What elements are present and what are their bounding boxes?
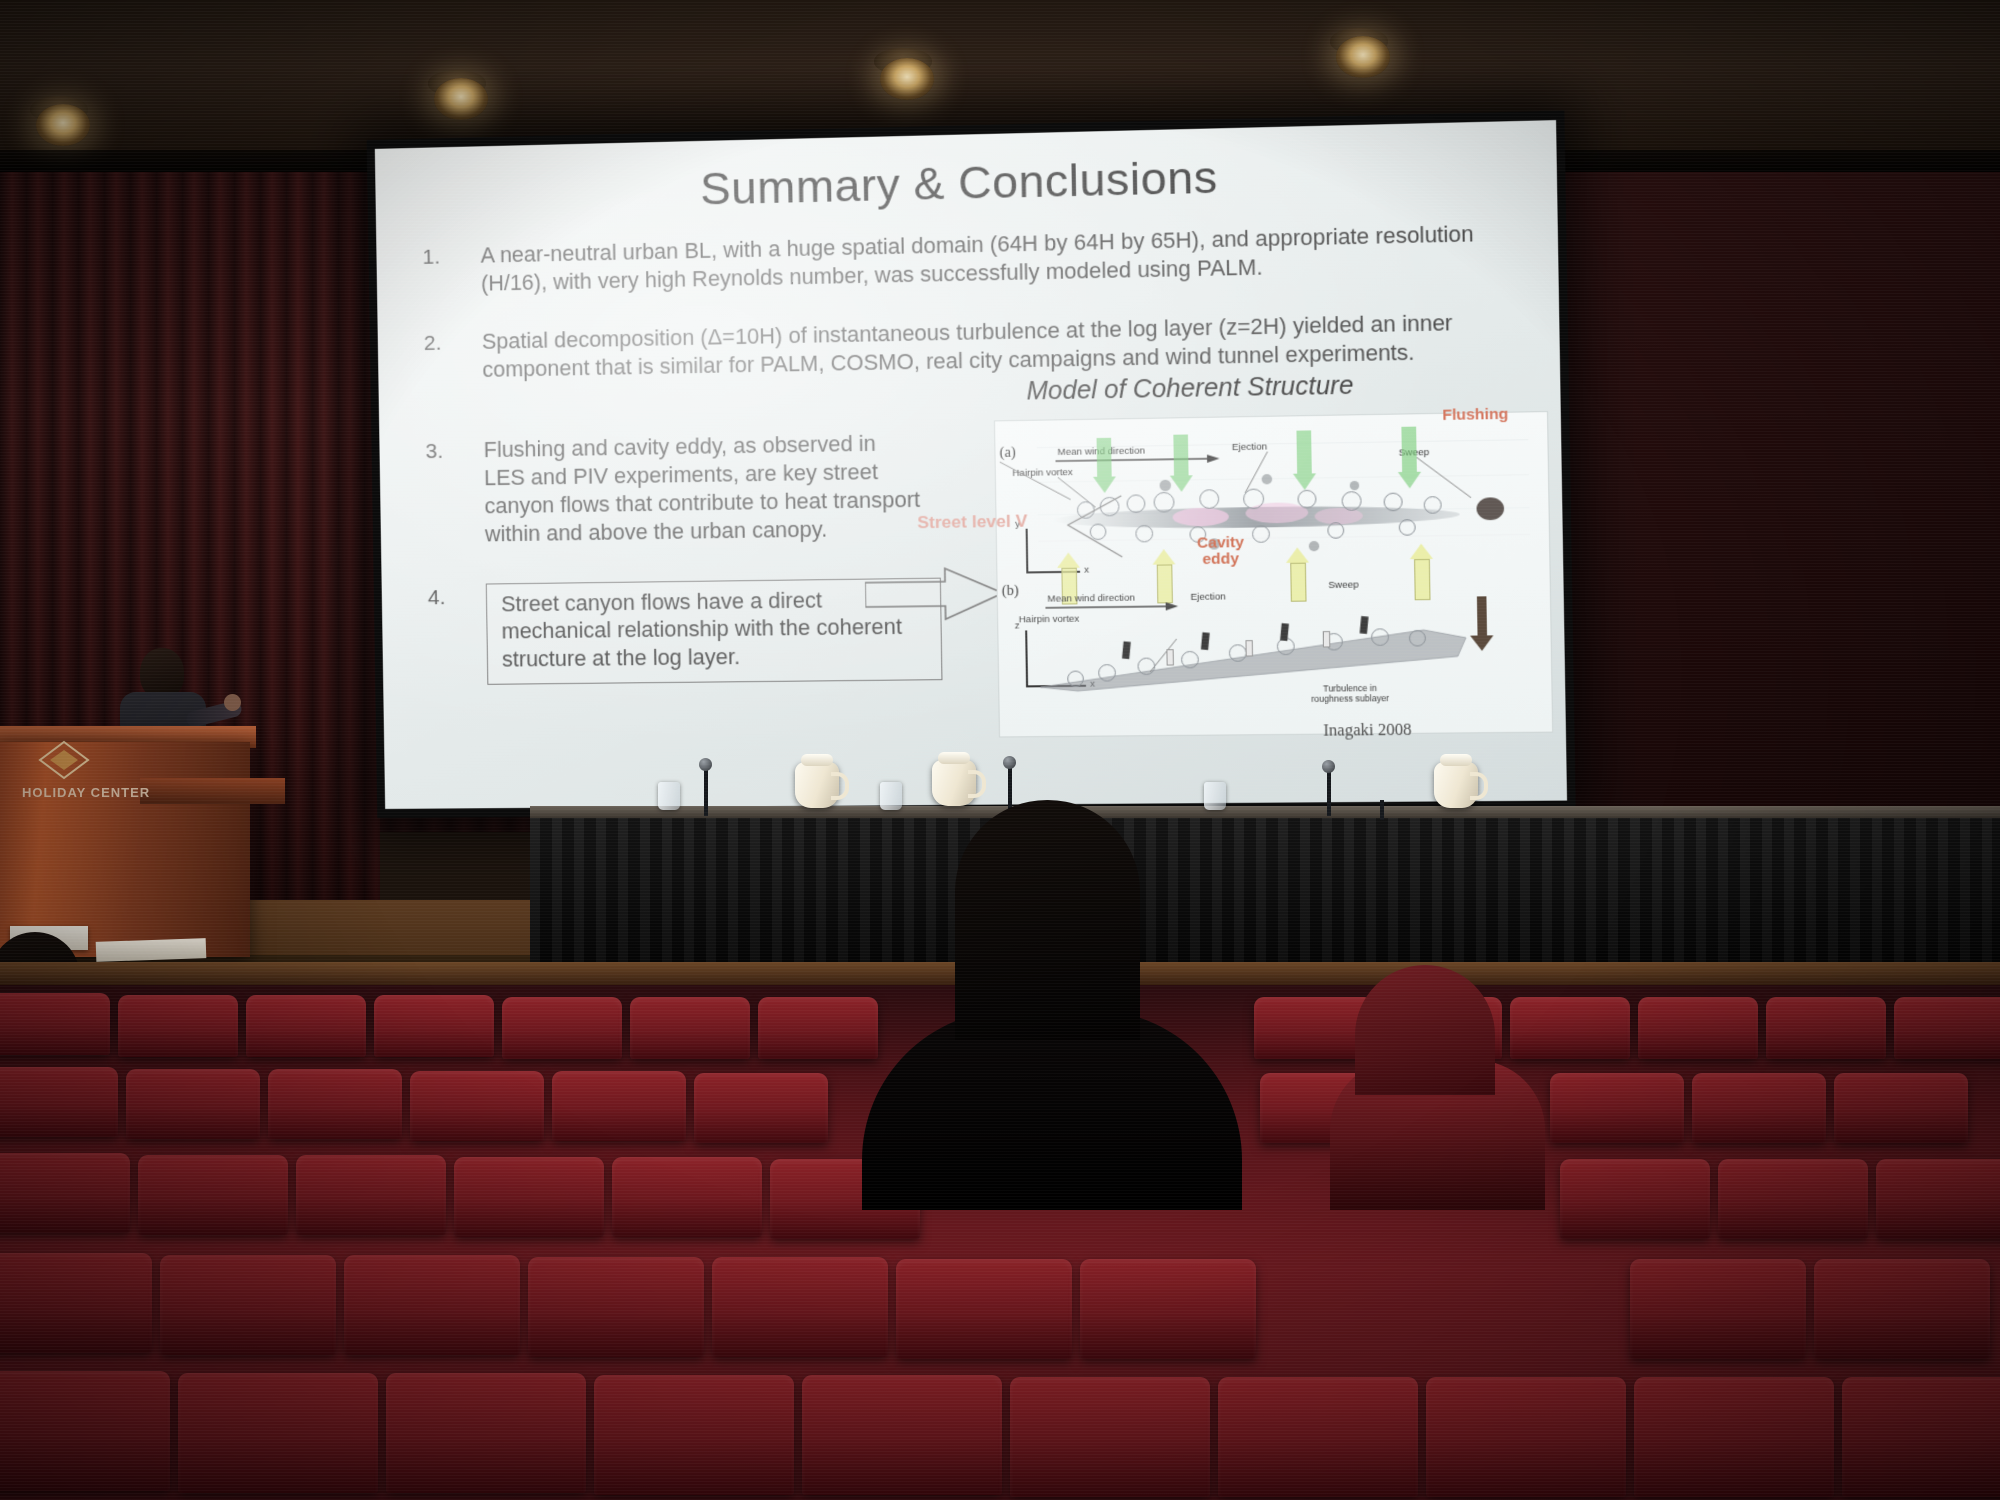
- seat: [0, 993, 110, 1055]
- green-down-arrow-4: [1397, 427, 1421, 489]
- vortex-ring-b: [1137, 658, 1155, 676]
- up-flux-marker: [1323, 631, 1331, 647]
- axis-z-label-b: z: [1015, 620, 1020, 631]
- vortex-ring-b: [1098, 664, 1116, 682]
- water-pitcher-1: [795, 762, 839, 808]
- down-flux-marker: [1201, 632, 1210, 650]
- seat: [802, 1375, 1002, 1495]
- auditorium-photo: Summary & Conclusions 1. A near-neutral …: [0, 0, 2000, 1500]
- seat: [374, 995, 494, 1057]
- seat: [1718, 1159, 1868, 1239]
- downlight-3: [880, 58, 934, 100]
- vortex-ring-b: [1229, 644, 1247, 662]
- vortex-ring-b: [1181, 651, 1199, 669]
- seat: [630, 997, 750, 1059]
- seat: [246, 995, 366, 1057]
- audience-head-center: [955, 800, 1140, 1040]
- down-flux-marker: [1360, 616, 1369, 634]
- seat: [502, 997, 622, 1059]
- papers-sheet: [96, 938, 207, 962]
- cavity-eddy-line2: eddy: [1202, 550, 1239, 568]
- street-level-v-label: Street level V: [917, 511, 1027, 533]
- seat: [454, 1157, 604, 1237]
- venue-logo-icon: [26, 740, 102, 782]
- audience-head-right: [1355, 965, 1495, 1095]
- seat: [552, 1071, 686, 1141]
- dark-particle: [1309, 541, 1320, 551]
- vortex-ring-b: [1067, 671, 1084, 687]
- seat: [126, 1069, 260, 1139]
- seat: [386, 1373, 586, 1493]
- seat: [0, 1371, 170, 1491]
- flushing-label: Flushing: [1442, 406, 1508, 425]
- seat: [758, 997, 878, 1059]
- speaker-head: [140, 648, 184, 698]
- coherent-structure-diagram: Model of Coherent Structure (a) Mean win…: [987, 368, 1558, 764]
- seat: [1692, 1073, 1826, 1143]
- seat: [138, 1155, 288, 1235]
- seat: [1630, 1259, 1806, 1359]
- podium-shelf: [140, 778, 285, 804]
- dark-particle: [1350, 481, 1360, 490]
- down-flux-marker: [1280, 623, 1289, 641]
- projection-screen-frame: Summary & Conclusions 1. A near-neutral …: [367, 111, 1576, 818]
- turbulence-sublayer-label: Turbulence in roughness sublayer: [1311, 684, 1389, 705]
- bullet-text: A near-neutral urban BL, with a huge spa…: [480, 221, 1485, 299]
- seat: [896, 1259, 1072, 1359]
- seat: [594, 1375, 794, 1495]
- seat: [694, 1073, 828, 1143]
- panel-b-label: (b): [1002, 584, 1019, 600]
- seat: [1510, 997, 1630, 1059]
- sweep-label-b: Sweep: [1328, 579, 1359, 591]
- seat: [178, 1373, 378, 1493]
- downlight-2: [434, 78, 488, 120]
- vortex-ring-b: [1371, 628, 1389, 646]
- vortex-ring-b: [1409, 630, 1426, 647]
- stage-wall-right: [1528, 172, 2000, 832]
- yellow-up-arrow-2: [1152, 549, 1176, 603]
- green-down-arrow-3: [1292, 430, 1316, 490]
- turbulence-sublayer-line2: roughness sublayer: [1311, 693, 1389, 704]
- cavity-eddy-label: Cavity eddy: [1197, 535, 1244, 568]
- seat: [296, 1155, 446, 1235]
- block-arrow-icon: [865, 564, 1005, 625]
- seat: [1550, 1073, 1684, 1143]
- green-down-arrow-2: [1169, 434, 1193, 492]
- street-level-pointer: [1063, 494, 1126, 562]
- head-table-top: [530, 806, 2000, 818]
- seat: [410, 1071, 544, 1141]
- dark-particle: [1262, 474, 1273, 484]
- seat: [1842, 1377, 2000, 1497]
- seat: [268, 1069, 402, 1139]
- seat: [1766, 997, 1886, 1059]
- seat: [1876, 1159, 2000, 1239]
- seat: [0, 1253, 152, 1353]
- bullet-number: 1.: [422, 243, 481, 300]
- microphone-head-1: [699, 758, 712, 771]
- bullet-number: 3.: [425, 437, 485, 550]
- downlight-1: [36, 104, 90, 146]
- head-table-skirt: [530, 818, 2000, 964]
- up-flux-marker: [1245, 640, 1253, 656]
- seat: [344, 1255, 520, 1355]
- speaker-hand: [224, 694, 241, 711]
- green-down-arrow-1: [1092, 438, 1116, 493]
- seat: [1638, 997, 1758, 1059]
- water-glass-1: [658, 782, 680, 810]
- microphone-head-2: [1003, 756, 1016, 769]
- mean-wind-arrow-b: [1045, 602, 1180, 614]
- seat: [1426, 1377, 1626, 1497]
- yellow-up-arrow-3: [1286, 547, 1310, 602]
- water-pitcher-3: [1434, 762, 1478, 808]
- seat: [1560, 1159, 1710, 1239]
- seat: [1634, 1377, 1834, 1497]
- axis-x-label-a: x: [1084, 565, 1089, 576]
- seat: [1834, 1073, 1968, 1143]
- bullet-number: 4.: [428, 583, 488, 686]
- water-glass-2: [880, 782, 902, 810]
- seat: [0, 1067, 118, 1137]
- diagram-citation: Inagaki 2008: [1323, 722, 1412, 741]
- seat: [1080, 1259, 1256, 1359]
- seat: [1814, 1259, 1990, 1359]
- ejection-label-b: Ejection: [1190, 591, 1225, 603]
- up-flux-marker: [1166, 649, 1174, 665]
- slide-title: Summary & Conclusions: [375, 143, 1557, 223]
- microphone-head-3: [1322, 760, 1335, 773]
- seat: [1894, 997, 2000, 1059]
- seat: [528, 1257, 704, 1357]
- seat: [118, 995, 238, 1057]
- brown-down-arrow: [1470, 596, 1494, 651]
- seat: [160, 1255, 336, 1355]
- yellow-up-arrow-4: [1410, 544, 1434, 601]
- seat: [0, 1153, 130, 1233]
- water-pitcher-2: [932, 760, 976, 806]
- seat: [612, 1157, 762, 1237]
- presentation-slide: Summary & Conclusions 1. A near-neutral …: [375, 120, 1567, 809]
- bullet-text: Flushing and cavity eddy, as observed in…: [483, 430, 921, 549]
- diagram-title: Model of Coherent Structure: [1026, 371, 1353, 406]
- microphone-stem-4: [1380, 800, 1384, 820]
- downlight-4: [1336, 36, 1390, 78]
- bullet-item-1: 1. A near-neutral urban BL, with a huge …: [422, 220, 1503, 300]
- projection-screen: Summary & Conclusions 1. A near-neutral …: [375, 120, 1567, 809]
- hairpin-packet-b: [1035, 615, 1475, 695]
- bullet-number: 2.: [424, 329, 483, 386]
- dark-particle: [1160, 480, 1172, 491]
- water-glass-3: [1204, 782, 1226, 810]
- diagram-body: (a) Mean wind direction Hairpin vortex E…: [994, 411, 1553, 738]
- seat: [1218, 1377, 1418, 1497]
- down-flux-marker: [1122, 641, 1131, 659]
- seat: [1010, 1377, 1210, 1497]
- venue-name-label: HOLIDAY CENTER: [22, 786, 150, 800]
- seat: [712, 1257, 888, 1357]
- vortex-ring: [1252, 525, 1270, 543]
